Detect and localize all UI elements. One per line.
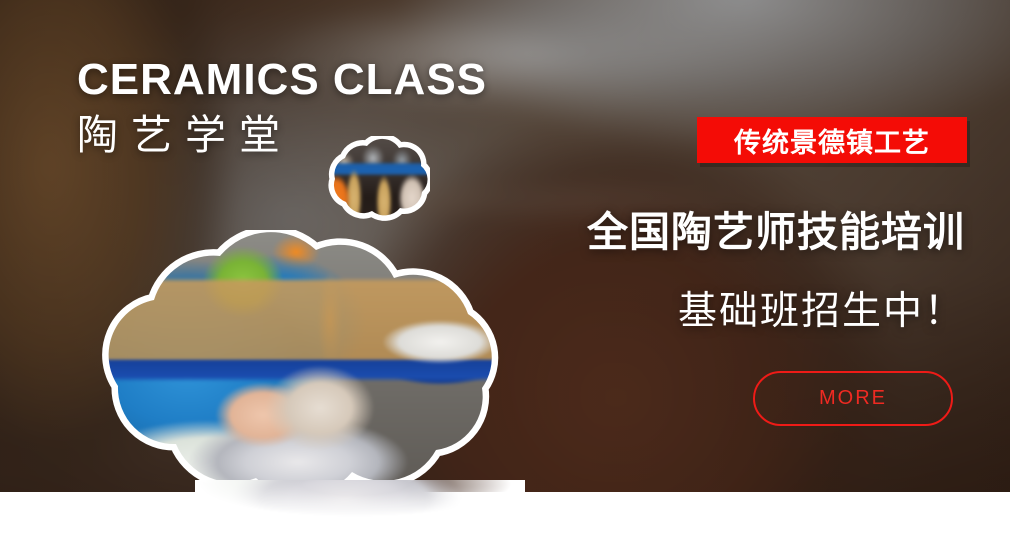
more-button-label: MORE bbox=[819, 387, 887, 410]
tradition-badge-label: 传统景德镇工艺 bbox=[734, 121, 930, 160]
headline-secondary: 基础班招生中！ bbox=[678, 280, 965, 336]
child-pottery-wheel-photo-image bbox=[58, 230, 530, 492]
title-english: CERAMICS CLASS bbox=[77, 58, 487, 102]
headline-primary: 全国陶艺师技能培训 bbox=[587, 198, 965, 258]
bottom-white-strip bbox=[0, 492, 1010, 538]
more-button[interactable]: MORE bbox=[753, 371, 953, 426]
child-pottery-wheel-photo-cloud bbox=[58, 230, 530, 492]
pottery-shelf-photo-cloud bbox=[318, 136, 430, 230]
cloud-shape-big-icon bbox=[58, 230, 530, 492]
ceramics-class-banner: CERAMICS CLASS 陶艺学堂 bbox=[0, 0, 1010, 538]
cloud-shape-small-icon bbox=[318, 136, 430, 230]
tradition-badge: 传统景德镇工艺 bbox=[697, 117, 967, 163]
